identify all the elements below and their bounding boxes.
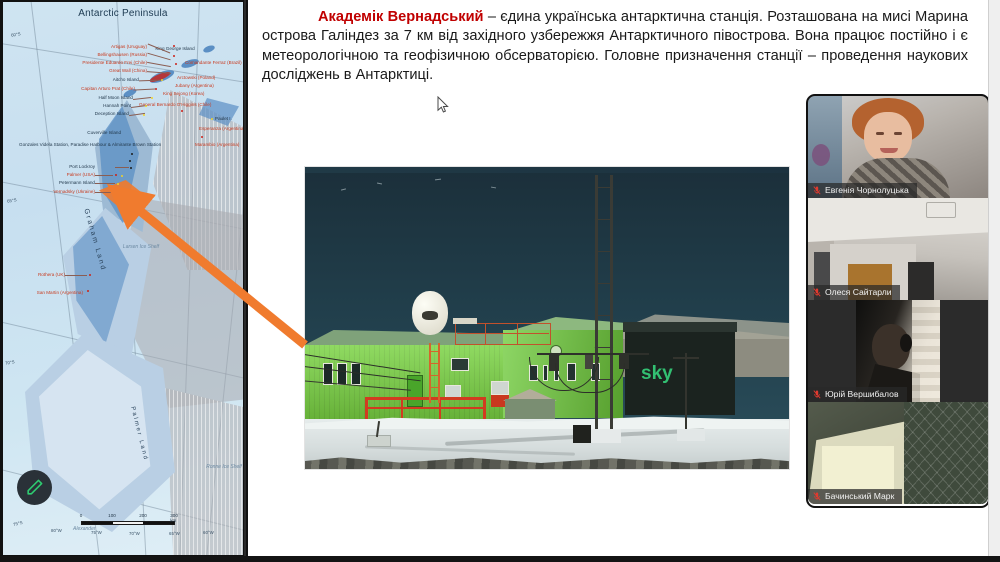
video-tile[interactable]: Бачинський Марк — [808, 402, 988, 504]
station-palmer: Palmer (USA) — [37, 172, 95, 178]
region-larsen-ice-shelf: Larsen Ice Shelf — [119, 244, 163, 250]
building-sign-text: sky — [641, 363, 673, 385]
region-ronne-ice-shelf: Ronne Ice Shelf — [205, 464, 243, 470]
video-tile[interactable]: Евгенія Чорнолуцька — [808, 96, 988, 198]
participant-name-row: Бачинський Марк — [808, 489, 902, 504]
station-great-wall: Great Wall (China) — [31, 68, 147, 74]
station-ohiggins: General Bernardo O'Higgins (Chile) — [139, 102, 193, 107]
station-hannah-point: Hannah Point — [33, 103, 131, 109]
region-alexander: Alexander — [73, 526, 96, 532]
station-king-sejong: King Sejong (Korea) — [163, 91, 204, 97]
video-participants-panel: Евгенія Чорнолуцька Олеся Са — [808, 96, 988, 506]
region-paulet-island: Paulet I. — [215, 116, 232, 122]
station-bellingshausen: Bellingshausen (Russia) — [25, 52, 147, 58]
lon-label-80w: 80°W — [51, 528, 62, 533]
station-deception-island: Deception Island — [27, 111, 129, 117]
station-marambio: Marambio (Argentina) — [195, 142, 239, 147]
station-petermann-island: Petermann Island — [23, 180, 95, 186]
microphone-off-icon — [813, 288, 821, 297]
lon-label-65w: 65°W — [169, 531, 180, 536]
page-title: Академік Вернадський – єдина українська … — [262, 8, 968, 86]
station-name-highlight: Академік Вернадський — [318, 9, 484, 25]
station-prat: Capitan Arturo Prat (Chile) — [23, 86, 135, 92]
participant-name-row: Евгенія Чорнолуцька — [808, 183, 917, 198]
mouse-cursor — [437, 96, 449, 114]
station-photo[interactable]: sky — [304, 166, 790, 470]
presentation-screen: Antarctic Peninsula 60°S 65°S 70°S 75°S … — [0, 0, 1000, 562]
station-rothera: Rothera (UK) — [17, 272, 65, 278]
video-tile[interactable]: Юрій Вершибалов — [808, 300, 988, 402]
station-arctowski: Arctowski (Poland) — [177, 75, 215, 81]
map-pane: Antarctic Peninsula 60°S 65°S 70°S 75°S … — [0, 0, 246, 562]
participant-name-row: Юрій Вершибалов — [808, 387, 907, 402]
participant-name: Олеся Сайтарли — [825, 287, 892, 297]
video-tile[interactable]: Олеся Сайтарли — [808, 198, 988, 300]
station-ferraz: Comandante Ferraz (Brazil) — [185, 60, 241, 65]
station-san-martin: San Martin (Argentina) — [11, 290, 83, 296]
microphone-off-icon — [813, 492, 821, 501]
station-jubany: Jubany (Argentina) — [175, 83, 214, 89]
station-artigas: Artigas (Uruguay) — [31, 44, 147, 50]
participant-name: Бачинський Марк — [825, 491, 894, 501]
microphone-off-icon — [813, 186, 821, 195]
station-frei: Presidente Eduardo Frei (Chile) — [9, 60, 147, 66]
lon-label-70w: 70°W — [129, 531, 140, 536]
right-gutter — [988, 0, 1000, 562]
participant-name: Евгенія Чорнолуцька — [825, 185, 909, 195]
pencil-icon[interactable] — [17, 470, 52, 505]
microphone-off-icon — [813, 390, 821, 399]
station-vernadsky: Vernadsky (Ukraine) — [17, 189, 95, 195]
station-half-moon-island: Half Moon Island — [29, 95, 133, 101]
station-aitcho-island: Aitcho Island — [33, 77, 139, 83]
participant-name-row: Олеся Сайтарли — [808, 285, 900, 300]
station-cuverville-island: Cuverville Island — [37, 130, 121, 136]
bottom-bar — [0, 556, 1000, 562]
station-port-lockroy: Port Lockroy — [37, 164, 95, 170]
map-title: Antarctic Peninsula — [3, 8, 243, 19]
map-scale-bar: 0 100 200 300 km — [81, 513, 175, 525]
lon-label-60w: 60°W — [203, 530, 214, 535]
station-esperanza: Esperanza (Argentina) — [199, 126, 239, 131]
antarctic-peninsula-map[interactable]: Antarctic Peninsula 60°S 65°S 70°S 75°S … — [3, 2, 243, 555]
participant-name: Юрій Вершибалов — [825, 389, 899, 399]
station-gonzales-videla: Gonzales Videla Station, Paradise Harbou… — [19, 142, 115, 147]
